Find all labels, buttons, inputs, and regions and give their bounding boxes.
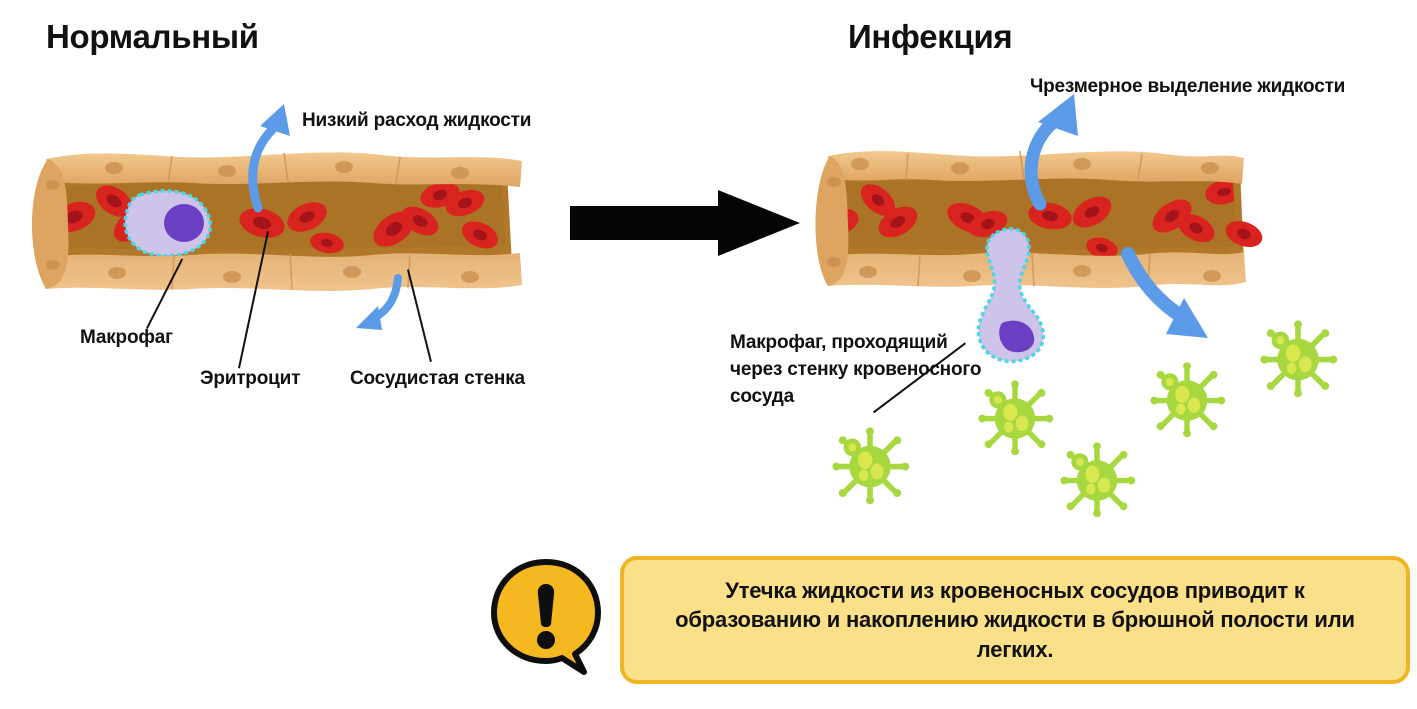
fluid-flow-arrow-up-left: [238, 96, 308, 216]
exclamation-speech-bubble-icon: [488, 558, 608, 678]
right-fluid-output-label: Чрезмерное выделение жидкости: [1030, 76, 1345, 98]
label-vessel-wall: Сосудистая стенка: [350, 368, 525, 390]
transition-arrow-icon: [568, 188, 808, 258]
virus-particle-icon: [830, 425, 910, 505]
virus-particle-icon: [1148, 360, 1226, 438]
warning-note-text: Утечка жидкости из кровеносных сосудов п…: [650, 576, 1380, 664]
left-panel-title: Нормальный: [46, 18, 259, 56]
right-panel-title: Инфекция: [848, 18, 1012, 56]
fluid-flow-arrow-down-right: [1118, 246, 1218, 356]
virus-particle-icon: [1258, 318, 1338, 398]
diagram-canvas: Нормальный: [0, 0, 1417, 709]
warning-note-box: Утечка жидкости из кровеносных сосудов п…: [620, 556, 1410, 684]
fluid-flow-arrow-up-right: [1012, 92, 1092, 212]
label-macrophage-crossing: Макрофаг, проходящий через стенку кровен…: [730, 330, 990, 411]
label-erythrocyte: Эритроцит: [200, 368, 300, 390]
label-macrophage: Макрофаг: [80, 327, 173, 349]
macrophage-shape: [125, 191, 210, 256]
left-fluid-output-label: Низкий расход жидкости: [302, 110, 531, 132]
virus-particle-icon: [1058, 440, 1136, 518]
